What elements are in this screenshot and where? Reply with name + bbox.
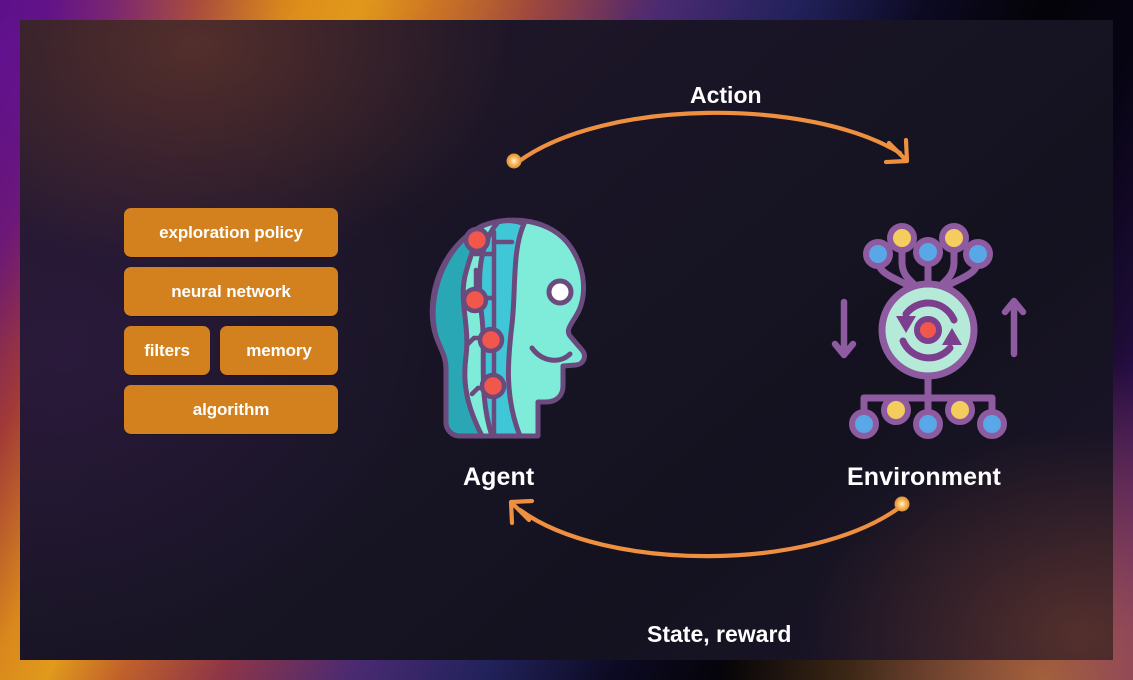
env-node-yellow — [884, 398, 908, 422]
environment-label: Environment — [847, 463, 1001, 492]
tag-row: filters memory — [124, 326, 338, 375]
env-node-yellow — [948, 398, 972, 422]
agent-label: Agent — [463, 463, 534, 492]
tag-algorithm[interactable]: algorithm — [124, 385, 338, 434]
tag-neural-network[interactable]: neural network — [124, 267, 338, 316]
env-node-blue — [966, 242, 990, 266]
environment-network-icon — [830, 208, 1030, 448]
state-reward-arrow-start-dot — [895, 497, 910, 512]
up-arrow-icon — [1005, 301, 1023, 354]
env-node-blue — [916, 240, 940, 264]
env-node-blue — [866, 242, 890, 266]
agent-circuit-node — [464, 289, 486, 311]
tag-row: neural network — [124, 267, 338, 316]
env-core-dot — [917, 319, 939, 341]
agent-component-tags: exploration policy neural network filter… — [124, 208, 338, 444]
env-node-blue — [852, 412, 876, 436]
tag-row: exploration policy — [124, 208, 338, 257]
state-reward-arrowhead — [511, 501, 532, 523]
robot-head-icon — [420, 208, 620, 448]
tag-memory[interactable]: memory — [220, 326, 338, 375]
diagram-panel: exploration policy neural network filter… — [20, 20, 1113, 660]
agent-circuit-node — [466, 229, 488, 251]
env-top-nodes — [866, 226, 990, 266]
agent-circuit-node — [480, 329, 502, 351]
action-arrow-label: Action — [690, 82, 762, 109]
action-arrow-path — [518, 113, 900, 162]
agent-circuit-node — [482, 375, 504, 397]
action-arrow — [507, 113, 908, 169]
tag-filters[interactable]: filters — [124, 326, 210, 375]
state-reward-arrow-label: State, reward — [647, 621, 791, 648]
down-arrow-icon — [835, 302, 853, 355]
env-node-yellow — [890, 226, 914, 250]
state-reward-arrow — [511, 497, 910, 557]
env-node-blue — [980, 412, 1004, 436]
env-node-yellow — [942, 226, 966, 250]
agent-eye-icon — [549, 281, 571, 303]
action-arrow-start-dot — [507, 154, 522, 169]
tag-row: algorithm — [124, 385, 338, 434]
env-node-blue — [916, 412, 940, 436]
action-arrowhead — [886, 140, 907, 162]
screenshot-root: exploration policy neural network filter… — [0, 0, 1133, 680]
tag-exploration-policy[interactable]: exploration policy — [124, 208, 338, 257]
state-reward-arrow-path — [520, 507, 900, 556]
